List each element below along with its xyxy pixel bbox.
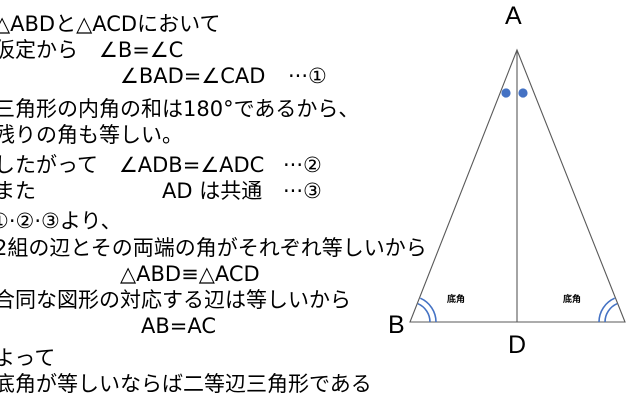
reference-tag-2: ···②	[283, 155, 322, 176]
base-angle-label-right: 底角	[563, 296, 581, 305]
base-angle-label-left: 底角	[447, 296, 465, 305]
apex-angle-dot-left	[501, 88, 510, 97]
proof-line-8: ①·②·③より、	[0, 211, 122, 232]
vertex-label-d: D	[508, 333, 526, 358]
figure-page: △ABDと△ACDにおいて 仮定から ∠B=∠C ∠BAD=∠CAD 三角形の内…	[0, 0, 629, 419]
proof-line-3: ∠BAD=∠CAD	[0, 66, 265, 87]
proof-line-12: AB=AC	[0, 316, 216, 337]
triangle-svg	[360, 0, 629, 419]
proof-line-6: したがって ∠ADB=∠ADC	[0, 155, 264, 176]
proof-line-13: よって	[0, 348, 55, 369]
proof-line-10: △ABD≡△ACD	[0, 264, 260, 285]
proof-line-1: △ABDと△ACDにおいて	[0, 14, 220, 35]
reference-tag-1: ···①	[288, 66, 327, 87]
proof-line-11: 合同な図形の対応する辺は等しいから	[0, 290, 351, 311]
proof-line-5: 残りの角も等しい。	[0, 125, 183, 146]
base-angle-arc-left-outer	[420, 298, 436, 322]
proof-line-2: 仮定から ∠B=∠C	[0, 40, 183, 61]
proof-line-4: 三角形の内角の和は180°であるから、	[0, 99, 359, 120]
apex-angle-dot-right	[518, 88, 527, 97]
proof-line-7: また AD は共通	[0, 181, 262, 202]
proof-text-block: △ABDと△ACDにおいて 仮定から ∠B=∠C ∠BAD=∠CAD 三角形の内…	[0, 0, 400, 419]
proof-line-14: 底角が等しいならば二等辺三角形である	[0, 374, 372, 395]
reference-tag-3: ···③	[283, 181, 322, 202]
vertex-label-b: B	[388, 313, 405, 338]
vertex-label-a: A	[505, 4, 522, 29]
base-angle-arc-right-outer	[599, 298, 615, 322]
base-angle-arc-left-inner	[418, 304, 430, 322]
base-angle-arc-right-inner	[605, 304, 617, 322]
isosceles-triangle-figure: A B D 底角 底角	[360, 0, 629, 419]
